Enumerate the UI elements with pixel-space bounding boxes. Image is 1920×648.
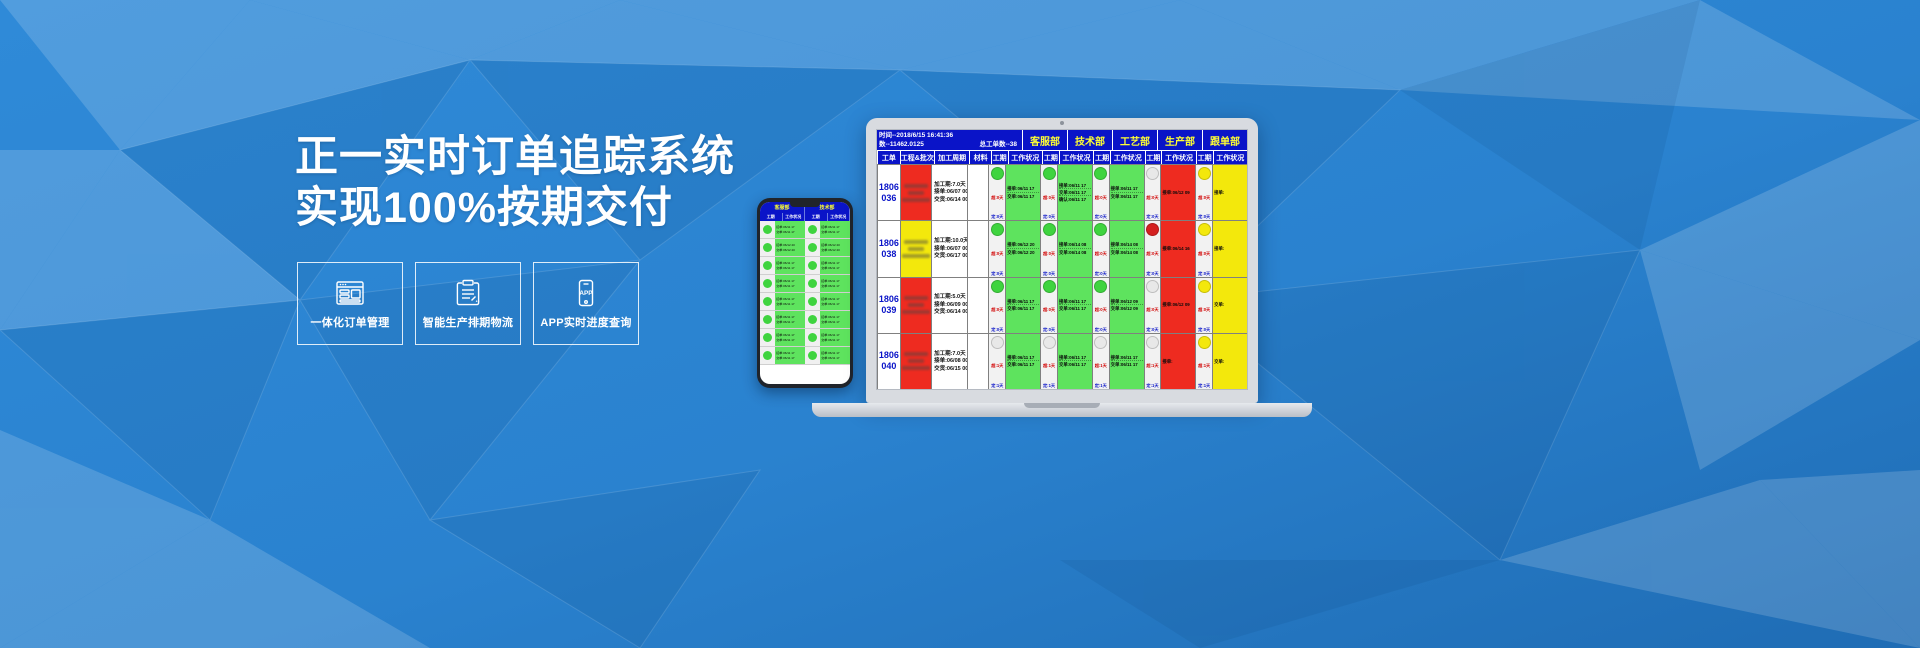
status-line: 接单:06/11 17 [821, 297, 850, 301]
term-cell: 超:0天定:0天 [1195, 221, 1212, 276]
dashboard-count: 数--11462.0125 [879, 140, 924, 149]
status-line: 接单:06/11 17 [1007, 299, 1039, 305]
status-line: 接单:06/11 17 [776, 225, 805, 229]
status-line: 接单:06/11 17 [1059, 355, 1091, 361]
status-line: 交单:06/11 17 [821, 320, 850, 324]
overdue-days: 超:0天 [1146, 195, 1158, 200]
phone-status-cell: 接单:06/11 17交单:06/11 17 [820, 347, 850, 364]
phone-term-cell [760, 257, 775, 274]
work-status-cell: 接单:06/11 17交单:06/11 17 [1057, 278, 1092, 333]
mobile-app-icon: APP [569, 278, 603, 308]
list-item[interactable]: 接单:06/11 17交单:06/11 17 [805, 293, 850, 311]
overdue-days: 超:0天 [991, 307, 1003, 312]
overdue-days: 超:1天 [1043, 363, 1055, 368]
list-item[interactable]: 接单:06/11 17交单:06/11 17 [760, 347, 805, 365]
phone-status-cell: 接单:06/12 20交单:06/12 20 [820, 239, 850, 256]
list-item[interactable]: 接单:06/11 17交单:06/11 17 [760, 221, 805, 239]
scheduled-days: 定:0天 [1095, 214, 1107, 219]
term-cell: 超:0天定:0天 [1092, 165, 1109, 220]
dashboard-time: 时间--2018/6/15 16:41:36 [879, 131, 1020, 140]
status-indicator-dot [1146, 223, 1159, 236]
scheduled-days: 定:0天 [1043, 327, 1055, 332]
phone-mockup: 客服部 技术部 工期 工作状况 工期 工作状况 接单:06/11 17交单:06… [757, 198, 853, 388]
term-cell: 超:0天定:0天 [988, 221, 1005, 276]
status-line: 交单:06/11 17 [1111, 362, 1143, 367]
cycle-line: 交货:06/15 00 [934, 366, 967, 373]
status-indicator-dot [808, 261, 817, 270]
list-item[interactable]: 接单:06/11 17交单:06/11 17 [805, 329, 850, 347]
dashboard-department: 技术部 [1067, 130, 1112, 150]
status-line: 接单:06/11 17 [1111, 355, 1143, 361]
status-line: 接单: [1162, 359, 1194, 364]
scheduled-days: 定:0天 [1043, 271, 1055, 276]
work-order-cell: 1806036 [877, 165, 900, 220]
laptop-screen: 时间--2018/6/15 16:41:36 数--11462.0125 总工单… [876, 129, 1248, 390]
status-line: 交单:06/12 20 [821, 248, 850, 252]
work-status-cell: 接单: [1212, 165, 1247, 220]
dashboard-column-header: 工单工程&批次加工周期材料工期工作状况工期工作状况工期工作状况工期工作状况工期工… [877, 150, 1247, 164]
material-cell [967, 334, 988, 389]
status-line: 接单:06/11 17 [776, 297, 805, 301]
headline-line-2: 实现100%按期交付 [295, 183, 715, 234]
list-item[interactable]: 接单:06/11 17交单:06/11 17 [805, 275, 850, 293]
status-line: 接单:06/11 17 [1007, 186, 1039, 192]
laptop-mockup: 时间--2018/6/15 16:41:36 数--11462.0125 总工单… [866, 118, 1312, 417]
overdue-days: 超:0天 [1043, 195, 1055, 200]
status-indicator-dot [991, 223, 1004, 236]
status-line: 交单:06/11 17 [821, 302, 850, 306]
phone-term-cell [805, 347, 820, 364]
status-indicator-dot [1198, 223, 1211, 236]
status-line: 接单:06/12 20 [776, 243, 805, 247]
status-line: 接单:06/14 16 [1162, 246, 1194, 251]
phone-term-cell [805, 239, 820, 256]
status-line: 接单:06/12 20 [1007, 242, 1039, 248]
scheduled-days: 定:0天 [991, 271, 1003, 276]
term-cell: 超:0天定:0天 [1092, 278, 1109, 333]
status-line: 交单: [1214, 302, 1246, 307]
redacted-text-line [908, 191, 924, 195]
list-item[interactable]: 接单:06/11 17交单:06/11 17 [805, 257, 850, 275]
overdue-days: 超:0天 [1198, 307, 1210, 312]
work-status-cell: 接单: [1212, 221, 1247, 276]
work-order-number: 1806 [879, 238, 899, 249]
redacted-text-line [904, 240, 928, 244]
redacted-text-line [908, 359, 924, 363]
phone-column-header: 工期 工作状况 工期 工作状况 [760, 213, 850, 221]
feature-card-order-management[interactable]: 一体化订单管理 [297, 262, 403, 345]
dashboard-header: 时间--2018/6/15 16:41:36 数--11462.0125 总工单… [877, 130, 1247, 150]
processing-cycle-cell: 加工期:5.0天接单:06/09 00交货:06/14 00 [931, 278, 967, 333]
cycle-line: 接单:06/07 00 [934, 189, 967, 196]
list-item[interactable]: 接单:06/11 17交单:06/11 17 [760, 293, 805, 311]
dashboard-dep-column: 工期 [1145, 151, 1162, 164]
work-status-cell: 接单:06/12 09 [1160, 278, 1195, 333]
phone-term-cell [760, 239, 775, 256]
work-status-cell: 接单: [1160, 334, 1195, 389]
redacted-text-line [902, 366, 930, 370]
status-line: 交单:06/11 17 [776, 266, 805, 270]
status-indicator-dot [1094, 336, 1107, 349]
scheduled-days: 定:1天 [991, 383, 1003, 388]
status-indicator-dot [1146, 280, 1159, 293]
status-line: 接单:06/11 17 [1059, 183, 1091, 189]
status-line: 接单: [1214, 190, 1246, 195]
status-line: 交单:06/11 17 [821, 356, 850, 360]
feature-card-label: 智能生产排期物流 [423, 314, 513, 330]
status-line: 交单:06/11 17 [821, 284, 850, 288]
cycle-line: 加工期:7.0天 [934, 182, 965, 189]
status-indicator-dot [763, 225, 772, 234]
phone-term-cell [805, 329, 820, 346]
status-line: 交单:06/11 17 [821, 266, 850, 270]
status-indicator-dot [763, 333, 772, 342]
phone-term-cell [805, 293, 820, 310]
overdue-days: 超:1天 [1198, 363, 1210, 368]
list-item[interactable]: 接单:06/11 17交单:06/11 17 [760, 329, 805, 347]
dashboard-department: 客服部 [1022, 130, 1067, 150]
work-status-cell: 接单:06/12 09交单:06/12 09 [1109, 278, 1144, 333]
cycle-line: 接单:06/07 00 [934, 246, 967, 253]
overdue-days: 超:0天 [1198, 251, 1210, 256]
dashboard-department: 生产部 [1157, 130, 1202, 150]
term-cell: 超:0天定:0天 [1092, 221, 1109, 276]
redacted-text-line [908, 303, 924, 307]
phone-column: 工作状况 [783, 213, 806, 221]
status-indicator-dot [808, 333, 817, 342]
work-order-cell: 1806039 [877, 278, 900, 333]
status-line: 交单:06/11 17 [776, 338, 805, 342]
status-indicator-dot [991, 167, 1004, 180]
status-indicator-dot [1043, 336, 1056, 349]
status-line: 接单:06/11 17 [821, 351, 850, 355]
status-indicator-dot [1198, 280, 1211, 293]
scheduled-days: 定:0天 [1095, 271, 1107, 276]
work-order-number: 1806 [879, 294, 899, 305]
phone-term-cell [760, 275, 775, 292]
status-line: 接单:06/11 17 [776, 279, 805, 283]
list-item[interactable]: 接单:06/11 17交单:06/11 17 [805, 221, 850, 239]
status-line: 确认:06/11 17 [1059, 197, 1091, 202]
status-line: 交单:06/12 09 [1111, 306, 1143, 311]
status-indicator-dot [763, 351, 772, 360]
phone-status-cell: 接单:06/11 17交单:06/11 17 [820, 221, 850, 238]
dashboard-layout-icon [333, 278, 367, 308]
laptop-base [812, 403, 1312, 417]
work-order-number: 036 [881, 193, 896, 204]
dashboard-meta: 时间--2018/6/15 16:41:36 数--11462.0125 总工单… [877, 130, 1022, 150]
dashboard-column-1: 工程&批次 [900, 151, 934, 164]
feature-card-smart-scheduling[interactable]: 智能生产排期物流 [415, 262, 521, 345]
term-cell: 超:0天定:0天 [1144, 278, 1161, 333]
scheduled-days: 定:0天 [1198, 271, 1210, 276]
status-indicator-dot [808, 243, 817, 252]
term-cell: 超:1天定:1天 [1092, 334, 1109, 389]
status-line: 接单:06/11 17 [776, 333, 805, 337]
status-indicator-dot [763, 243, 772, 252]
status-line: 交单:06/12 20 [1007, 250, 1039, 255]
hero-copy: 正一实时订单追踪系统 实现100%按期交付 [295, 132, 715, 234]
status-line: 交单:06/11 17 [776, 284, 805, 288]
status-line: 接单:06/12 09 [1162, 302, 1194, 307]
cycle-line: 加工期:10.0天 [934, 238, 967, 245]
status-indicator-dot [808, 297, 817, 306]
status-indicator-dot [1043, 223, 1056, 236]
list-item[interactable]: 接单:06/11 17交单:06/11 17 [805, 347, 850, 365]
project-batch-cell [900, 334, 931, 389]
status-line: 交单:06/11 17 [821, 230, 850, 234]
overdue-days: 超:0天 [1198, 195, 1210, 200]
material-cell [967, 165, 988, 220]
scheduled-days: 定:0天 [1146, 271, 1158, 276]
phone-term-cell [805, 311, 820, 328]
cycle-line: 交货:06/14 00 [934, 197, 967, 204]
work-status-cell: 接单:06/11 17交单:06/11 17确认:06/11 17 [1057, 165, 1092, 220]
list-item[interactable]: 接单:06/12 20交单:06/12 20 [760, 239, 805, 257]
overdue-days: 超:0天 [991, 251, 1003, 256]
clipboard-checklist-icon [451, 278, 485, 308]
work-status-cell: 接单:06/11 17交单:06/11 17 [1005, 165, 1040, 220]
redacted-text-line [902, 310, 930, 314]
dashboard-table-body: 1806036加工期:7.0天接单:06/07 00交货:06/14 00超:0… [877, 164, 1247, 389]
term-cell: 超:0天定:0天 [1144, 221, 1161, 276]
phone-term-cell [805, 257, 820, 274]
overdue-days: 超:0天 [1043, 251, 1055, 256]
order-tracking-dashboard: 时间--2018/6/15 16:41:36 数--11462.0125 总工单… [877, 130, 1247, 389]
term-cell: 超:0天定:0天 [1040, 278, 1057, 333]
list-item[interactable]: 接单:06/11 17交单:06/11 17 [805, 311, 850, 329]
dashboard-dep-column: 工作状况 [1008, 151, 1042, 164]
status-indicator-dot [808, 225, 817, 234]
term-cell: 超:1天定:1天 [1144, 334, 1161, 389]
status-line: 接单:06/11 17 [821, 315, 850, 319]
overdue-days: 超:0天 [1146, 307, 1158, 312]
laptop-lid: 时间--2018/6/15 16:41:36 数--11462.0125 总工单… [866, 118, 1258, 403]
status-line: 交单:06/14 08 [1111, 250, 1143, 255]
material-cell [967, 221, 988, 276]
feature-card-label: APP实时进度查询 [540, 314, 631, 330]
work-status-cell: 接单:06/11 17交单:06/11 17 [1109, 334, 1144, 389]
status-indicator-dot [1094, 280, 1107, 293]
list-item[interactable]: 接单:06/11 17交单:06/11 17 [760, 311, 805, 329]
status-indicator-dot [991, 280, 1004, 293]
list-item[interactable]: 接单:06/11 17交单:06/11 17 [760, 275, 805, 293]
overdue-days: 超:0天 [1146, 251, 1158, 256]
status-line: 交单:06/14 08 [1059, 250, 1091, 255]
scheduled-days: 定:0天 [991, 327, 1003, 332]
work-status-cell: 接单:06/11 17交单:06/11 17 [1109, 165, 1144, 220]
phone-term-cell [760, 329, 775, 346]
scheduled-days: 定:1天 [1198, 383, 1210, 388]
phone-status-cell: 接单:06/11 17交单:06/11 17 [775, 257, 805, 274]
status-line: 交单:06/11 17 [776, 230, 805, 234]
work-order-cell: 1806038 [877, 221, 900, 276]
table-row[interactable]: 1806039加工期:5.0天接单:06/09 00交货:06/14 00超:0… [877, 277, 1247, 333]
headline-line-1: 正一实时订单追踪系统 [295, 132, 715, 183]
scheduled-days: 定:1天 [1043, 383, 1055, 388]
project-batch-cell [900, 165, 931, 220]
work-order-number: 1806 [879, 350, 899, 361]
phone-status-cell: 接单:06/11 17交单:06/11 17 [775, 293, 805, 310]
work-status-cell: 接单:06/11 17交单:06/11 17 [1005, 334, 1040, 389]
status-line: 交单:06/11 17 [1059, 306, 1091, 311]
dashboard-department: 工艺部 [1112, 130, 1157, 150]
feature-card-app-tracking[interactable]: APP APP实时进度查询 [533, 262, 639, 345]
table-row[interactable]: 1806036加工期:7.0天接单:06/07 00交货:06/14 00超:0… [877, 164, 1247, 220]
overdue-days: 超:0天 [1095, 195, 1107, 200]
status-indicator-dot [1198, 167, 1211, 180]
dashboard-dep-column: 工期 [1196, 151, 1213, 164]
work-order-number: 039 [881, 305, 896, 316]
work-status-cell: 接单:06/12 09 [1160, 165, 1195, 220]
work-status-cell: 接单:06/12 20交单:06/12 20 [1005, 221, 1040, 276]
status-line: 接单:06/12 09 [1111, 299, 1143, 305]
status-line: 交单:06/11 17 [776, 302, 805, 306]
scheduled-days: 定:0天 [1198, 327, 1210, 332]
work-status-cell: 接单:06/14 08交单:06/14 08 [1057, 221, 1092, 276]
status-indicator-dot [808, 279, 817, 288]
material-cell [967, 278, 988, 333]
phone-column-group-right: 接单:06/11 17交单:06/11 17接单:06/12 20交单:06/1… [805, 221, 850, 365]
term-cell: 超:0天定:0天 [1195, 278, 1212, 333]
work-order-number: 038 [881, 249, 896, 260]
redacted-text-line [904, 184, 928, 188]
dashboard-column-3: 材料 [969, 151, 990, 164]
phone-status-cell: 接单:06/11 17交单:06/11 17 [820, 257, 850, 274]
term-cell: 超:1天定:1天 [1040, 334, 1057, 389]
work-status-cell: 接单:06/14 16 [1160, 221, 1195, 276]
work-status-cell: 接单:06/11 17交单:06/11 17 [1005, 278, 1040, 333]
scheduled-days: 定:0天 [1095, 327, 1107, 332]
scheduled-days: 定:1天 [1095, 383, 1107, 388]
scheduled-days: 定:0天 [1043, 214, 1055, 219]
status-indicator-dot [1146, 167, 1159, 180]
status-indicator-dot [1043, 167, 1056, 180]
status-line: 接单: [1214, 246, 1246, 251]
overdue-days: 超:1天 [1146, 363, 1158, 368]
phone-notch [790, 202, 820, 207]
phone-status-cell: 接单:06/11 17交单:06/11 17 [775, 311, 805, 328]
phone-term-cell [760, 293, 775, 310]
phone-status-cell: 接单:06/11 17交单:06/11 17 [820, 311, 850, 328]
processing-cycle-cell: 加工期:10.0天接单:06/07 00交货:06/17 00 [931, 221, 967, 276]
redacted-text-line [904, 352, 928, 356]
phone-status-cell: 接单:06/11 17交单:06/11 17 [775, 347, 805, 364]
redacted-text-line [908, 247, 924, 251]
status-indicator-dot [808, 315, 817, 324]
scheduled-days: 定:0天 [1146, 214, 1158, 219]
phone-column-group-left: 接单:06/11 17交单:06/11 17接单:06/12 20交单:06/1… [760, 221, 805, 365]
work-order-number: 1806 [879, 182, 899, 193]
status-indicator-dot [1146, 336, 1159, 349]
project-batch-cell [900, 278, 931, 333]
dashboard-dep-column: 工期 [1093, 151, 1110, 164]
status-line: 接单:06/12 09 [1162, 190, 1194, 195]
scheduled-days: 定:0天 [991, 214, 1003, 219]
status-line: 交单:06/11 17 [776, 320, 805, 324]
term-cell: 超:0天定:0天 [1040, 221, 1057, 276]
overdue-days: 超:1天 [1095, 363, 1107, 368]
status-line: 交单:06/11 17 [821, 338, 850, 342]
phone-status-cell: 接单:06/11 17交单:06/11 17 [775, 221, 805, 238]
term-cell: 超:0天定:0天 [1040, 165, 1057, 220]
status-indicator-dot [763, 315, 772, 324]
processing-cycle-cell: 加工期:7.0天接单:06/07 00交货:06/14 00 [931, 165, 967, 220]
dashboard-dep-column: 工作状况 [1110, 151, 1144, 164]
status-line: 交单: [1214, 359, 1246, 364]
work-status-cell: 交单: [1212, 334, 1247, 389]
overdue-days: 超:0天 [1095, 307, 1107, 312]
phone-term-cell [760, 347, 775, 364]
status-line: 交单:06/11 17 [1007, 194, 1039, 199]
dashboard-column-0: 工单 [877, 151, 900, 164]
status-indicator-dot [1094, 167, 1107, 180]
status-line: 接单:06/11 17 [821, 279, 850, 283]
status-indicator-dot [991, 336, 1004, 349]
phone-status-cell: 接单:06/11 17交单:06/11 17 [775, 329, 805, 346]
dashboard-dep-column: 工作状况 [1059, 151, 1093, 164]
scheduled-days: 定:0天 [1198, 214, 1210, 219]
phone-term-cell [760, 221, 775, 238]
status-line: 接单:06/11 17 [1059, 299, 1091, 305]
status-line: 交单:06/11 17 [1059, 362, 1091, 367]
redacted-text-line [904, 296, 928, 300]
app-badge-text: APP [579, 290, 593, 297]
work-status-cell: 交单: [1212, 278, 1247, 333]
list-item[interactable]: 接单:06/11 17交单:06/11 17 [760, 257, 805, 275]
phone-status-cell: 接单:06/11 17交单:06/11 17 [820, 275, 850, 292]
dashboard-department-row: 客服部技术部工艺部生产部跟单部 [1022, 130, 1247, 150]
project-batch-cell [900, 221, 931, 276]
work-order-cell: 1806040 [877, 334, 900, 389]
redacted-text-line [902, 254, 930, 258]
status-indicator-dot [808, 351, 817, 360]
cycle-line: 交货:06/17 00 [934, 253, 967, 260]
redacted-text-line [902, 198, 930, 202]
status-line: 接单:06/11 17 [776, 261, 805, 265]
phone-term-cell [805, 221, 820, 238]
table-row[interactable]: 1806040加工期:7.0天接单:06/08 00交货:06/15 00超:1… [877, 333, 1247, 389]
scheduled-days: 定:1天 [1146, 383, 1158, 388]
table-row[interactable]: 1806038加工期:10.0天接单:06/07 00交货:06/17 00超:… [877, 220, 1247, 276]
status-indicator-dot [763, 279, 772, 288]
phone-status-cell: 接单:06/12 20交单:06/12 20 [775, 239, 805, 256]
overdue-days: 超:0天 [1043, 307, 1055, 312]
dashboard-total-orders: 总工单数--38 [979, 140, 1017, 149]
status-line: 交单:06/12 20 [776, 248, 805, 252]
phone-status-cell: 接单:06/11 17交单:06/11 17 [820, 293, 850, 310]
overdue-days: 超:1天 [991, 363, 1003, 368]
status-indicator-dot [763, 297, 772, 306]
phone-status-cell: 接单:06/11 17交单:06/11 17 [820, 329, 850, 346]
cycle-line: 接单:06/09 00 [934, 302, 967, 309]
cycle-line: 加工期:7.0天 [934, 351, 965, 358]
term-cell: 超:0天定:0天 [1144, 165, 1161, 220]
status-indicator-dot [1043, 280, 1056, 293]
status-line: 接单:06/11 17 [821, 261, 850, 265]
phone-term-cell [805, 275, 820, 292]
feature-card-list: 一体化订单管理 智能生产排期物流 APP AP [297, 262, 639, 345]
status-line: 接单:06/11 17 [1111, 186, 1143, 192]
phone-screen: 客服部 技术部 工期 工作状况 工期 工作状况 接单:06/11 17交单:06… [760, 202, 850, 384]
dashboard-department: 跟单部 [1202, 130, 1247, 150]
list-item[interactable]: 接单:06/12 20交单:06/12 20 [805, 239, 850, 257]
status-line: 接单:06/11 17 [776, 351, 805, 355]
status-indicator-dot [1198, 336, 1211, 349]
status-line: 接单:06/11 17 [1007, 355, 1039, 361]
term-cell: 超:1天定:1天 [1195, 334, 1212, 389]
phone-column: 工作状况 [828, 213, 851, 221]
